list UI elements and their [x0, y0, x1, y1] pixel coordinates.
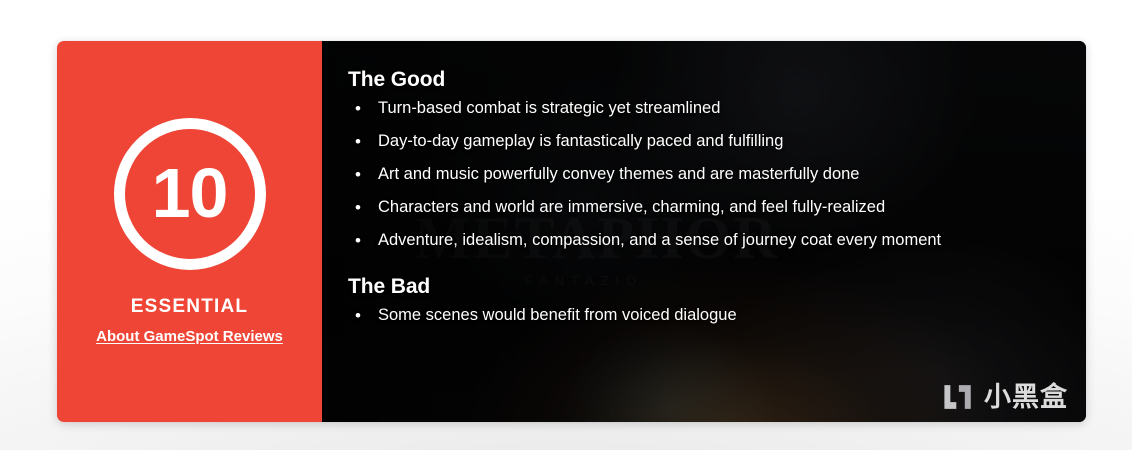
the-bad-heading: The Bad [348, 275, 1086, 299]
list-item: • Day-to-day gameplay is fantastically p… [348, 131, 1086, 152]
the-good-list: • Turn-based combat is strategic yet str… [348, 98, 1086, 251]
score-ring: 10 [114, 118, 266, 270]
list-item-text: Art and music powerfully convey themes a… [378, 164, 859, 185]
the-bad-list: • Some scenes would benefit from voiced … [348, 305, 1086, 326]
bullet-icon: • [348, 197, 378, 218]
score-value: 10 [152, 158, 228, 228]
bullet-icon: • [348, 164, 378, 185]
list-item-text: Adventure, idealism, compassion, and a s… [378, 230, 941, 251]
list-item: • Characters and world are immersive, ch… [348, 197, 1086, 218]
about-gamespot-reviews-link[interactable]: About GameSpot Reviews [57, 328, 322, 345]
list-item: • Art and music powerfully convey themes… [348, 164, 1086, 185]
list-item: • Turn-based combat is strategic yet str… [348, 98, 1086, 119]
page-background: 10 ESSENTIAL About GameSpot Reviews META… [0, 0, 1132, 450]
review-score-card: 10 ESSENTIAL About GameSpot Reviews META… [57, 41, 1086, 422]
list-item: • Adventure, idealism, compassion, and a… [348, 230, 1086, 251]
list-item-text: Day-to-day gameplay is fantastically pac… [378, 131, 783, 152]
bullet-icon: • [348, 98, 378, 119]
list-item-text: Characters and world are immersive, char… [378, 197, 885, 218]
bullet-icon: • [348, 230, 378, 251]
score-label: ESSENTIAL [57, 296, 322, 318]
score-panel: 10 ESSENTIAL About GameSpot Reviews [57, 41, 322, 422]
list-item-text: Turn-based combat is strategic yet strea… [378, 98, 720, 119]
list-item-text: Some scenes would benefit from voiced di… [378, 305, 737, 326]
review-highlights: The Good • Turn-based combat is strategi… [322, 41, 1086, 326]
bullet-icon: • [348, 131, 378, 152]
list-item: • Some scenes would benefit from voiced … [348, 305, 1086, 326]
the-good-heading: The Good [348, 68, 1086, 92]
bullet-icon: • [348, 305, 378, 326]
review-content-panel: METAPHOR FANTAZIO The Good • Turn-based … [322, 41, 1086, 422]
